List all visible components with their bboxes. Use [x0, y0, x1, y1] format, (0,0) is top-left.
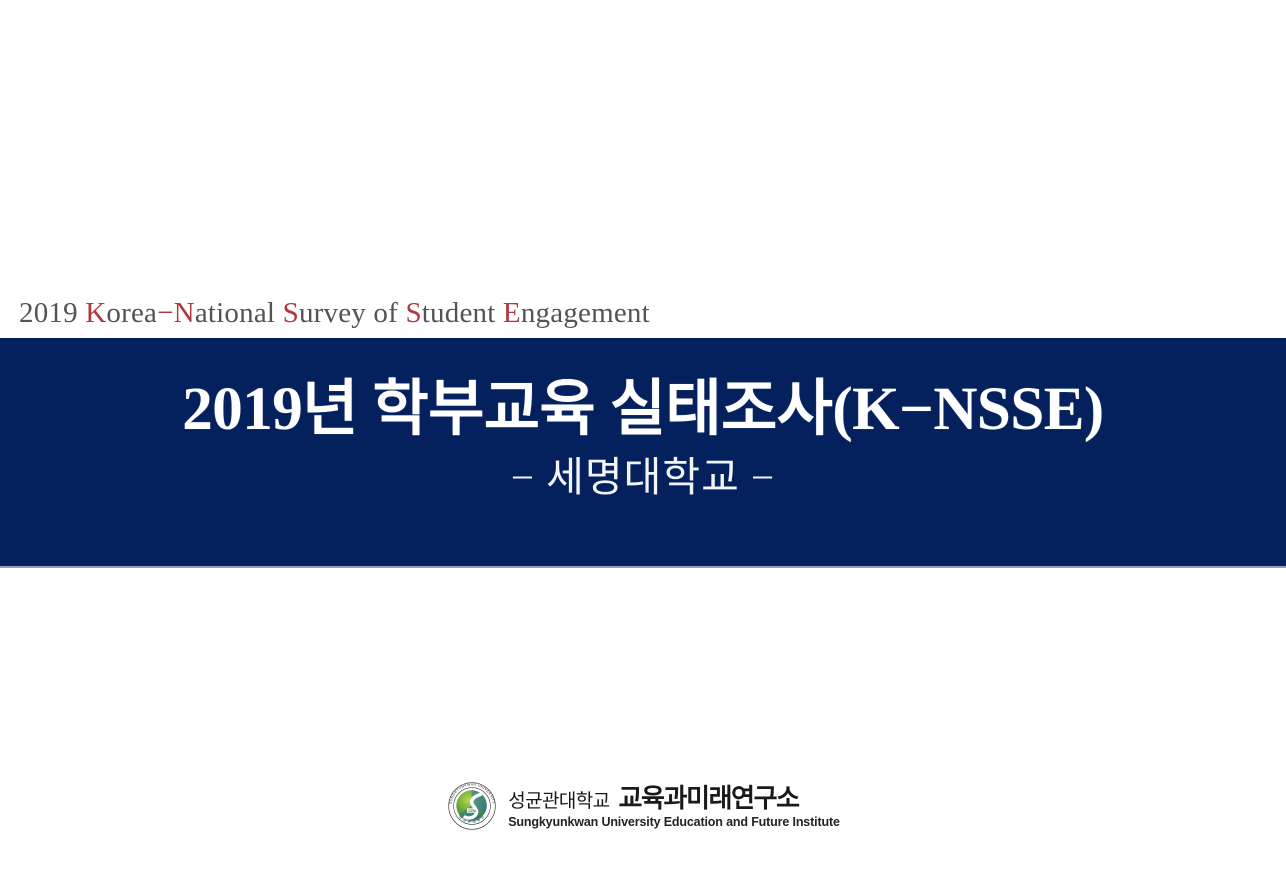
eyebrow-segment-year: 2019 [19, 299, 85, 328]
banner-text-block: 2019년 학부교육 실태조사(K−NSSE) − 세명대학교 − [0, 374, 1286, 503]
english-subtitle-line: 2019 Korea−National Survey of Student En… [19, 291, 650, 335]
eyebrow-segment-n: N [174, 299, 195, 328]
page-subtitle-university: − 세명대학교 − [0, 452, 1286, 503]
eyebrow-segment-k: K [85, 299, 106, 328]
svg-text:1398: 1398 [468, 809, 476, 813]
eyebrow-segment-urvey-of: urvey of [299, 299, 406, 328]
university-name-korean: 성균관대학교 [508, 792, 609, 812]
eyebrow-segment-ngagement: ngagement [521, 299, 650, 328]
institute-logo-text: 성균관대학교 교육과미래연구소 Sungkyunkwan University … [508, 783, 840, 829]
eyebrow-segment-s2: S [405, 299, 421, 328]
title-slide: 2019 Korea−National Survey of Student En… [0, 0, 1286, 882]
institute-name-bold-korean: 교육과미래연구소 [619, 785, 799, 812]
eyebrow-segment-e: E [503, 299, 521, 328]
eyebrow-segment-tudent: tudent [422, 299, 503, 328]
institute-name-english: Sungkyunkwan University Education and Fu… [508, 815, 840, 829]
sungkyunkwan-globe-emblem-icon: 1398 SUNGKYUNKWAN UNIVERSITY 성 균 관 대 학 교 [446, 780, 498, 832]
eyebrow-segment-dash: − [157, 299, 174, 328]
eyebrow-segment-orea: orea [106, 299, 157, 328]
institute-logo-lockup: 1398 SUNGKYUNKWAN UNIVERSITY 성 균 관 대 학 교… [0, 780, 1286, 832]
institute-name-korean: 성균관대학교 교육과미래연구소 [508, 785, 840, 812]
eyebrow-segment-s1: S [283, 299, 299, 328]
navy-title-banner: 2019년 학부교육 실태조사(K−NSSE) − 세명대학교 − [0, 338, 1286, 568]
eyebrow-segment-ational: ational [195, 299, 283, 328]
page-title: 2019년 학부교육 실태조사(K−NSSE) [0, 374, 1286, 446]
